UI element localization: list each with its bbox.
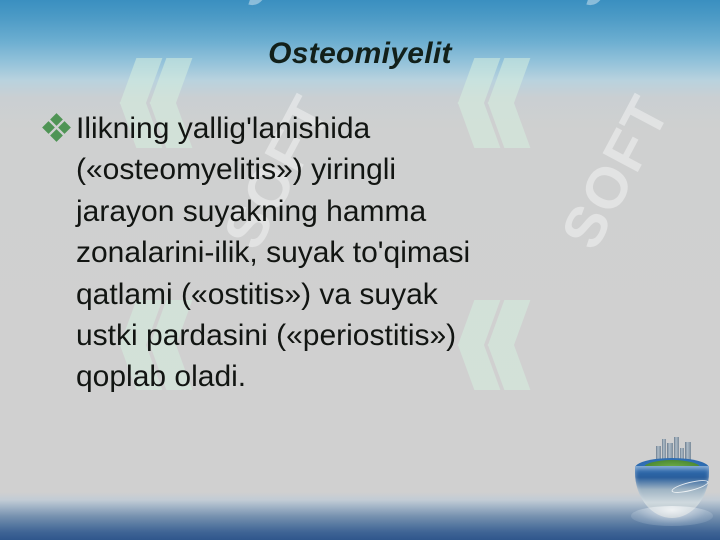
body-line: jarayon suyakning hamma [76,191,684,232]
body-line: zonalarini-ilik, suyak to'qimasi [76,232,684,273]
slide-body: Ilikning yallig'lanishida («osteomyeliti… [44,108,684,398]
bullet-paragraph: Ilikning yallig'lanishida («osteomyeliti… [76,108,684,398]
watermark-text: SOFT [210,0,346,17]
globe-splash [631,506,713,526]
watermark-text: SOFT [548,0,684,17]
body-line: qoplab oladi. [76,356,684,397]
bullet-list-item: Ilikning yallig'lanishida («osteomyeliti… [44,108,684,398]
body-line: («osteomyelitis») yiringli [76,149,684,190]
body-line: ustki pardasini («periostitis») [76,315,684,356]
green-diamond-cluster-bullet-icon [44,115,70,141]
body-line: Ilikning yallig'lanishida [76,108,684,149]
slide-canvas: SOFT SOFT SOFT SOFT Osteomiyelit Iliknin… [0,0,720,540]
body-line: qatlami («ostitis») va suyak [76,274,684,315]
floating-island-city-globe-image [631,430,713,526]
slide-title: Osteomiyelit [0,37,720,71]
